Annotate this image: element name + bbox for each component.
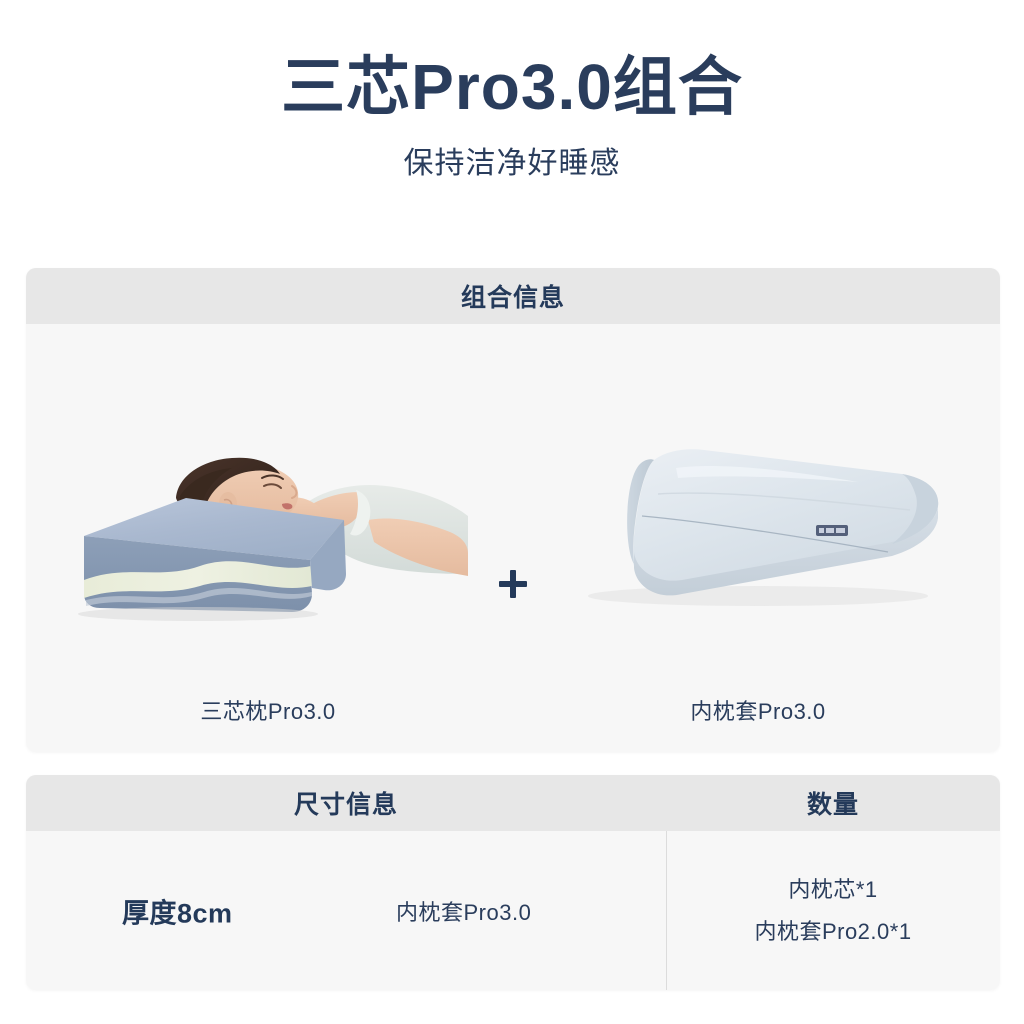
product-detail-page: 三芯Pro3.0组合 保持洁净好睡感 组合信息: [0, 0, 1024, 1024]
memory-foam-pillow-illustration: [68, 424, 468, 624]
product-item-pillow[interactable]: 三芯枕Pro3.0: [68, 324, 468, 752]
spec-body-row: 厚度8cm 内枕套Pro3.0 内枕芯*1 内枕套Pro2.0*1: [26, 831, 1000, 990]
quantity-line-case: 内枕套Pro2.0*1: [754, 911, 911, 953]
care-label-tag: [816, 525, 848, 536]
pillow-case-image: [558, 424, 958, 624]
inner-pillow-case-illustration: [558, 424, 958, 624]
spec-header-size: 尺寸信息: [26, 775, 666, 831]
combination-info-header-label: 组合信息: [461, 278, 565, 314]
page-subtitle: 保持洁净好睡感: [0, 146, 1024, 182]
page-title-block: 三芯Pro3.0组合 保持洁净好睡感: [0, 52, 1024, 182]
plus-icon: [493, 564, 533, 604]
spec-case-name-value: 内枕套Pro3.0: [396, 895, 531, 927]
combination-info-header: 组合信息: [26, 268, 1000, 324]
quantity-line-core: 内枕芯*1: [788, 869, 877, 911]
spec-header-quantity: 数量: [666, 775, 1000, 831]
page-title: 三芯Pro3.0组合: [0, 52, 1024, 124]
combination-info-body: 三芯枕Pro3.0: [26, 324, 1000, 752]
spec-header-row: 尺寸信息 数量: [26, 775, 1000, 831]
spec-quantity-cell: 内枕芯*1 内枕套Pro2.0*1: [666, 831, 1000, 990]
spec-thickness-value: 厚度8cm: [122, 891, 233, 930]
spec-info-card: 尺寸信息 数量 厚度8cm 内枕套Pro3.0 内枕芯*1 内枕套Pro2.0*…: [26, 775, 1000, 990]
product-label-case: 内枕套Pro3.0: [558, 694, 958, 726]
spec-column-divider: [666, 831, 667, 990]
product-item-case[interactable]: 内枕套Pro3.0: [558, 324, 958, 752]
product-label-pillow: 三芯枕Pro3.0: [68, 694, 468, 726]
plus-separator: [468, 324, 558, 752]
spec-header-quantity-label: 数量: [807, 785, 859, 821]
spec-size-cell: 厚度8cm 内枕套Pro3.0: [26, 831, 666, 990]
spec-header-size-label: 尺寸信息: [294, 785, 398, 821]
pillow-with-model-image: [68, 424, 468, 624]
combination-info-card: 组合信息: [26, 268, 1000, 752]
